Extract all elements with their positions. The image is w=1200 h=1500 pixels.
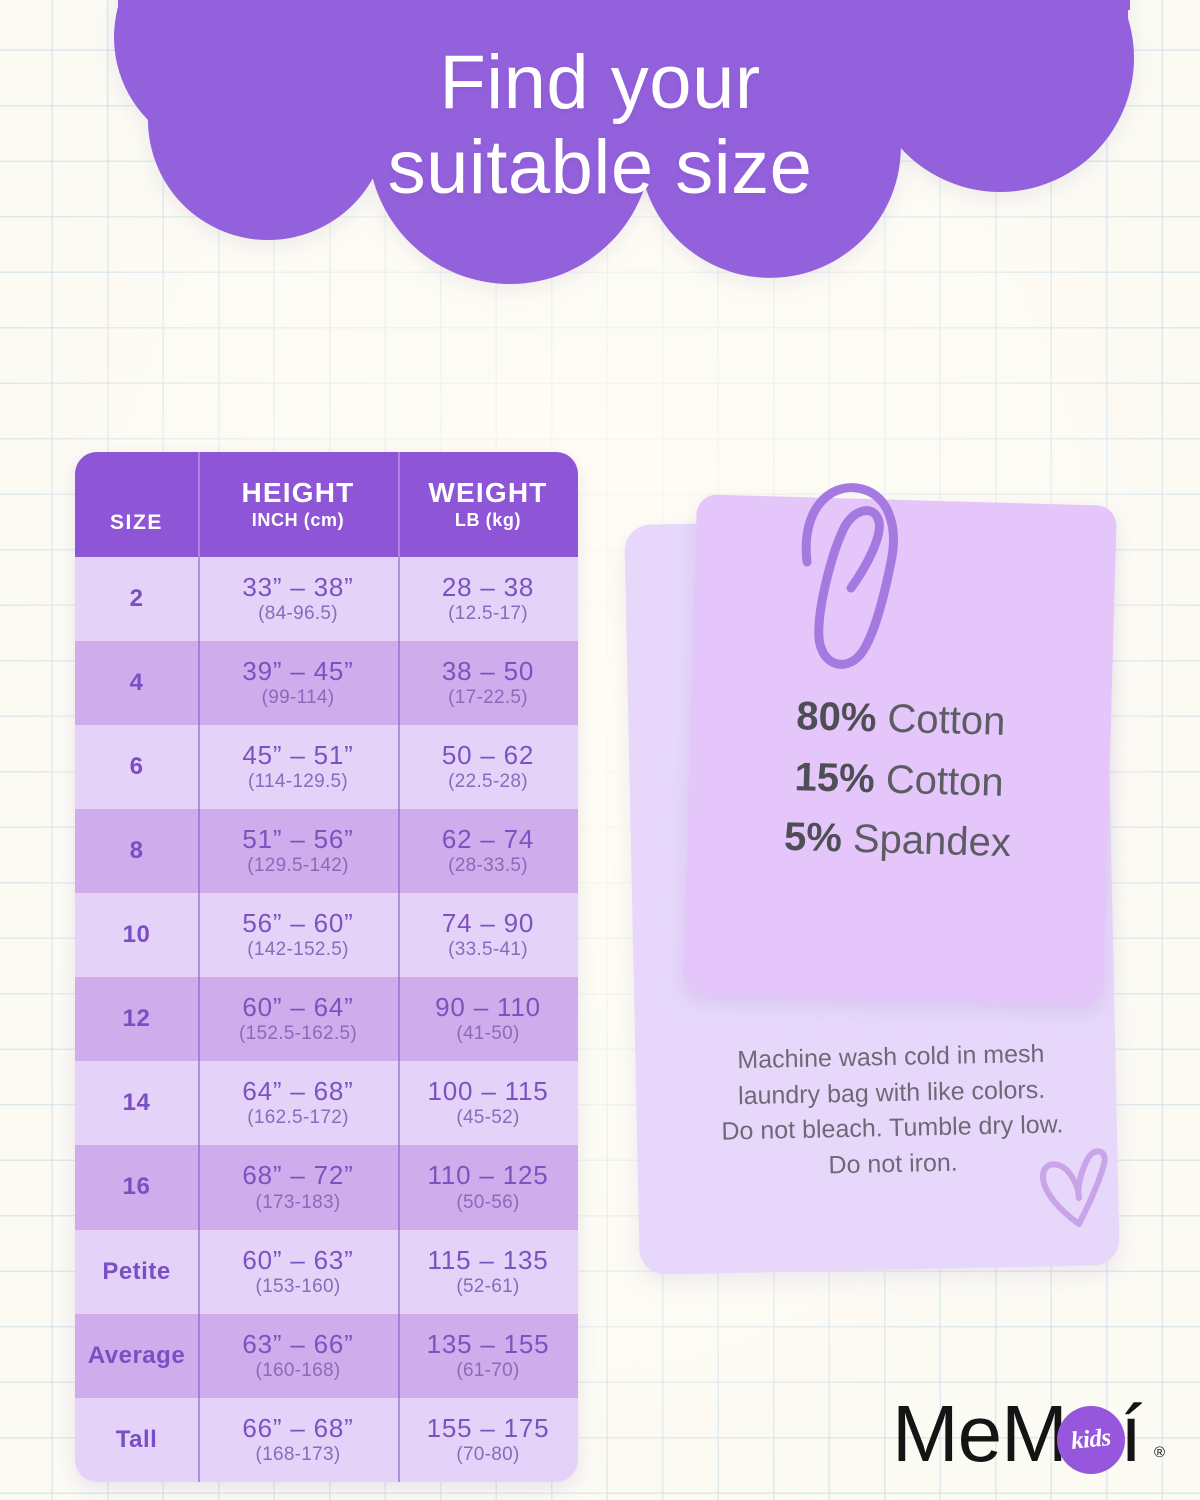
cell-weight-lb: 62 – 74 [402,825,574,854]
logo-kids-label: kids [1070,1424,1112,1456]
cell-height-inches: 64” – 68” [202,1077,394,1106]
composition-line: 5% Spandex [783,807,1011,874]
cell-weight: 50 – 62(22.5-28) [398,725,578,809]
composition-material: Cotton [887,696,1006,743]
cell-height-inches: 66” – 68” [202,1414,394,1443]
cell-weight-kg: (28-33.5) [402,855,574,877]
cell-height-inches: 33” – 38” [202,573,394,602]
logo-wordmark: MeM [892,1382,1067,1486]
cloud-top-fill [118,0,1130,10]
cell-height-cm: (114-129.5) [202,771,394,793]
cell-height: 60” – 63”(153-160) [198,1230,398,1314]
table-row: 1668” – 72”(173-183)110 – 125(50-56) [75,1145,578,1229]
cell-weight-lb: 135 – 155 [402,1330,574,1359]
composition-percent: 5% [783,815,842,861]
composition-material: Spandex [852,817,1011,865]
table-row: 1056” – 60”(142-152.5)74 – 90(33.5-41) [75,893,578,977]
cell-size: 2 [75,557,198,641]
cell-weight: 115 – 135(52-61) [398,1230,578,1314]
composition-percent: 80% [796,694,877,740]
cell-height: 68” – 72”(173-183) [198,1145,398,1229]
cell-size-value: 16 [79,1161,194,1213]
cell-weight-kg: (17-22.5) [402,687,574,709]
cell-weight: 135 – 155(61-70) [398,1314,578,1398]
table-row: 1260” – 64”(152.5-162.5)90 – 110(41-50) [75,977,578,1061]
page-title-line-2: suitable size [0,125,1200,210]
cell-size-value: 12 [79,993,194,1045]
cell-height-cm: (142-152.5) [202,939,394,961]
cell-height-cm: (152.5-162.5) [202,1023,394,1045]
cell-height-cm: (173-183) [202,1192,394,1214]
cell-size-value: Tall [79,1414,194,1466]
cell-weight: 90 – 110(41-50) [398,977,578,1061]
cell-weight-lb: 28 – 38 [402,573,574,602]
cell-height-inches: 68” – 72” [202,1161,394,1190]
cell-height: 45” – 51”(114-129.5) [198,725,398,809]
cell-height-cm: (99-114) [202,687,394,709]
cell-weight-lb: 90 – 110 [402,993,574,1022]
column-header-size-label: SIZE [79,478,194,535]
cell-height-cm: (129.5-142) [202,855,394,877]
cell-height-inches: 60” – 64” [202,993,394,1022]
cell-size: 4 [75,641,198,725]
cell-size-value: Average [79,1330,194,1382]
cell-size: 16 [75,1145,198,1229]
cell-height: 56” – 60”(142-152.5) [198,893,398,977]
size-chart-table: SIZE HEIGHT INCH (cm) WEIGHT LB (kg) 233… [75,452,578,1482]
table-row: 851” – 56”(129.5-142)62 – 74(28-33.5) [75,809,578,893]
cell-weight-kg: (22.5-28) [402,771,574,793]
composition-percent: 15% [794,755,875,801]
cell-weight-lb: 74 – 90 [402,909,574,938]
column-header-height: HEIGHT INCH (cm) [198,452,398,557]
cell-weight-kg: (41-50) [402,1023,574,1045]
care-info-area: 80% Cotton15% Cotton5% Spandex Machine w… [632,500,1132,1280]
cell-size-value: 8 [79,825,194,877]
table-row: 1464” – 68”(162.5-172)100 – 115(45-52) [75,1061,578,1145]
cell-height: 39” – 45”(99-114) [198,641,398,725]
cell-weight-lb: 115 – 135 [402,1246,574,1275]
cell-weight-kg: (50-56) [402,1192,574,1214]
paperclip-icon [787,470,917,680]
cell-size-value: Petite [79,1246,194,1298]
cell-weight-kg: (33.5-41) [402,939,574,961]
cell-weight-lb: 38 – 50 [402,657,574,686]
table-body: 233” – 38”(84-96.5)28 – 38(12.5-17)439” … [75,557,578,1482]
cell-height-inches: 56” – 60” [202,909,394,938]
cell-weight-kg: (45-52) [402,1107,574,1129]
table-row: Tall66” – 68”(168-173)155 – 175(70-80) [75,1398,578,1482]
cell-height: 63” – 66”(160-168) [198,1314,398,1398]
cell-weight-lb: 100 – 115 [402,1077,574,1106]
cell-weight: 38 – 50(17-22.5) [398,641,578,725]
composition-material: Cotton [885,757,1004,804]
brand-logo: MeM kids í ® [892,1382,1172,1486]
column-header-height-label: HEIGHT [202,478,394,508]
page-title-line-1: Find your [0,40,1200,125]
cell-height-cm: (162.5-172) [202,1107,394,1129]
cell-weight: 110 – 125(50-56) [398,1145,578,1229]
cell-weight-lb: 50 – 62 [402,741,574,770]
cell-weight-kg: (70-80) [402,1444,574,1466]
cell-size: 12 [75,977,198,1061]
heart-icon [1032,1140,1127,1235]
cell-height: 66” – 68”(168-173) [198,1398,398,1482]
column-header-weight: WEIGHT LB (kg) [398,452,578,557]
cell-size-value: 14 [79,1077,194,1129]
column-header-size: SIZE [75,452,198,557]
cell-weight: 28 – 38(12.5-17) [398,557,578,641]
cell-height-inches: 60” – 63” [202,1246,394,1275]
cell-height-cm: (168-173) [202,1444,394,1466]
table-row: 645” – 51”(114-129.5)50 – 62(22.5-28) [75,725,578,809]
cell-size: 10 [75,893,198,977]
table-row: Average63” – 66”(160-168)135 – 155(61-70… [75,1314,578,1398]
table-row: 439” – 45”(99-114)38 – 50(17-22.5) [75,641,578,725]
cell-height-cm: (84-96.5) [202,603,394,625]
cell-height-cm: (153-160) [202,1276,394,1298]
column-header-weight-label: WEIGHT [402,478,574,508]
logo-wordmark-tail: í [1120,1382,1142,1486]
cell-weight-kg: (12.5-17) [402,603,574,625]
cell-size: 14 [75,1061,198,1145]
cell-height: 33” – 38”(84-96.5) [198,557,398,641]
cell-size: Petite [75,1230,198,1314]
cell-size-value: 4 [79,657,194,709]
cell-height-cm: (160-168) [202,1360,394,1382]
cell-size: 8 [75,809,198,893]
cell-weight: 155 – 175(70-80) [398,1398,578,1482]
cell-height-inches: 51” – 56” [202,825,394,854]
composition-line: 15% Cotton [794,747,1005,814]
registered-trademark-icon: ® [1154,1444,1165,1461]
cell-size-value: 2 [79,573,194,625]
cell-weight: 74 – 90(33.5-41) [398,893,578,977]
cell-size-value: 10 [79,909,194,961]
logo-kids-badge: kids [1057,1406,1125,1474]
cell-size: 6 [75,725,198,809]
cell-height-inches: 45” – 51” [202,741,394,770]
composition-line: 80% Cotton [796,686,1007,753]
cell-weight: 100 – 115(45-52) [398,1061,578,1145]
column-header-height-unit: INCH (cm) [202,510,394,531]
cell-height-inches: 39” – 45” [202,657,394,686]
column-header-weight-unit: LB (kg) [402,510,574,531]
page-title: Find your suitable size [0,40,1200,210]
cell-weight-lb: 110 – 125 [402,1161,574,1190]
cell-height: 51” – 56”(129.5-142) [198,809,398,893]
cell-height: 64” – 68”(162.5-172) [198,1061,398,1145]
table-header-row: SIZE HEIGHT INCH (cm) WEIGHT LB (kg) [75,452,578,557]
cell-weight: 62 – 74(28-33.5) [398,809,578,893]
table-row: 233” – 38”(84-96.5)28 – 38(12.5-17) [75,557,578,641]
table-row: Petite60” – 63”(153-160)115 – 135(52-61) [75,1230,578,1314]
cell-height: 60” – 64”(152.5-162.5) [198,977,398,1061]
cell-size-value: 6 [79,741,194,793]
cell-weight-kg: (61-70) [402,1360,574,1382]
cell-size: Tall [75,1398,198,1482]
cell-weight-lb: 155 – 175 [402,1414,574,1443]
cell-height-inches: 63” – 66” [202,1330,394,1359]
cell-weight-kg: (52-61) [402,1276,574,1298]
cell-size: Average [75,1314,198,1398]
